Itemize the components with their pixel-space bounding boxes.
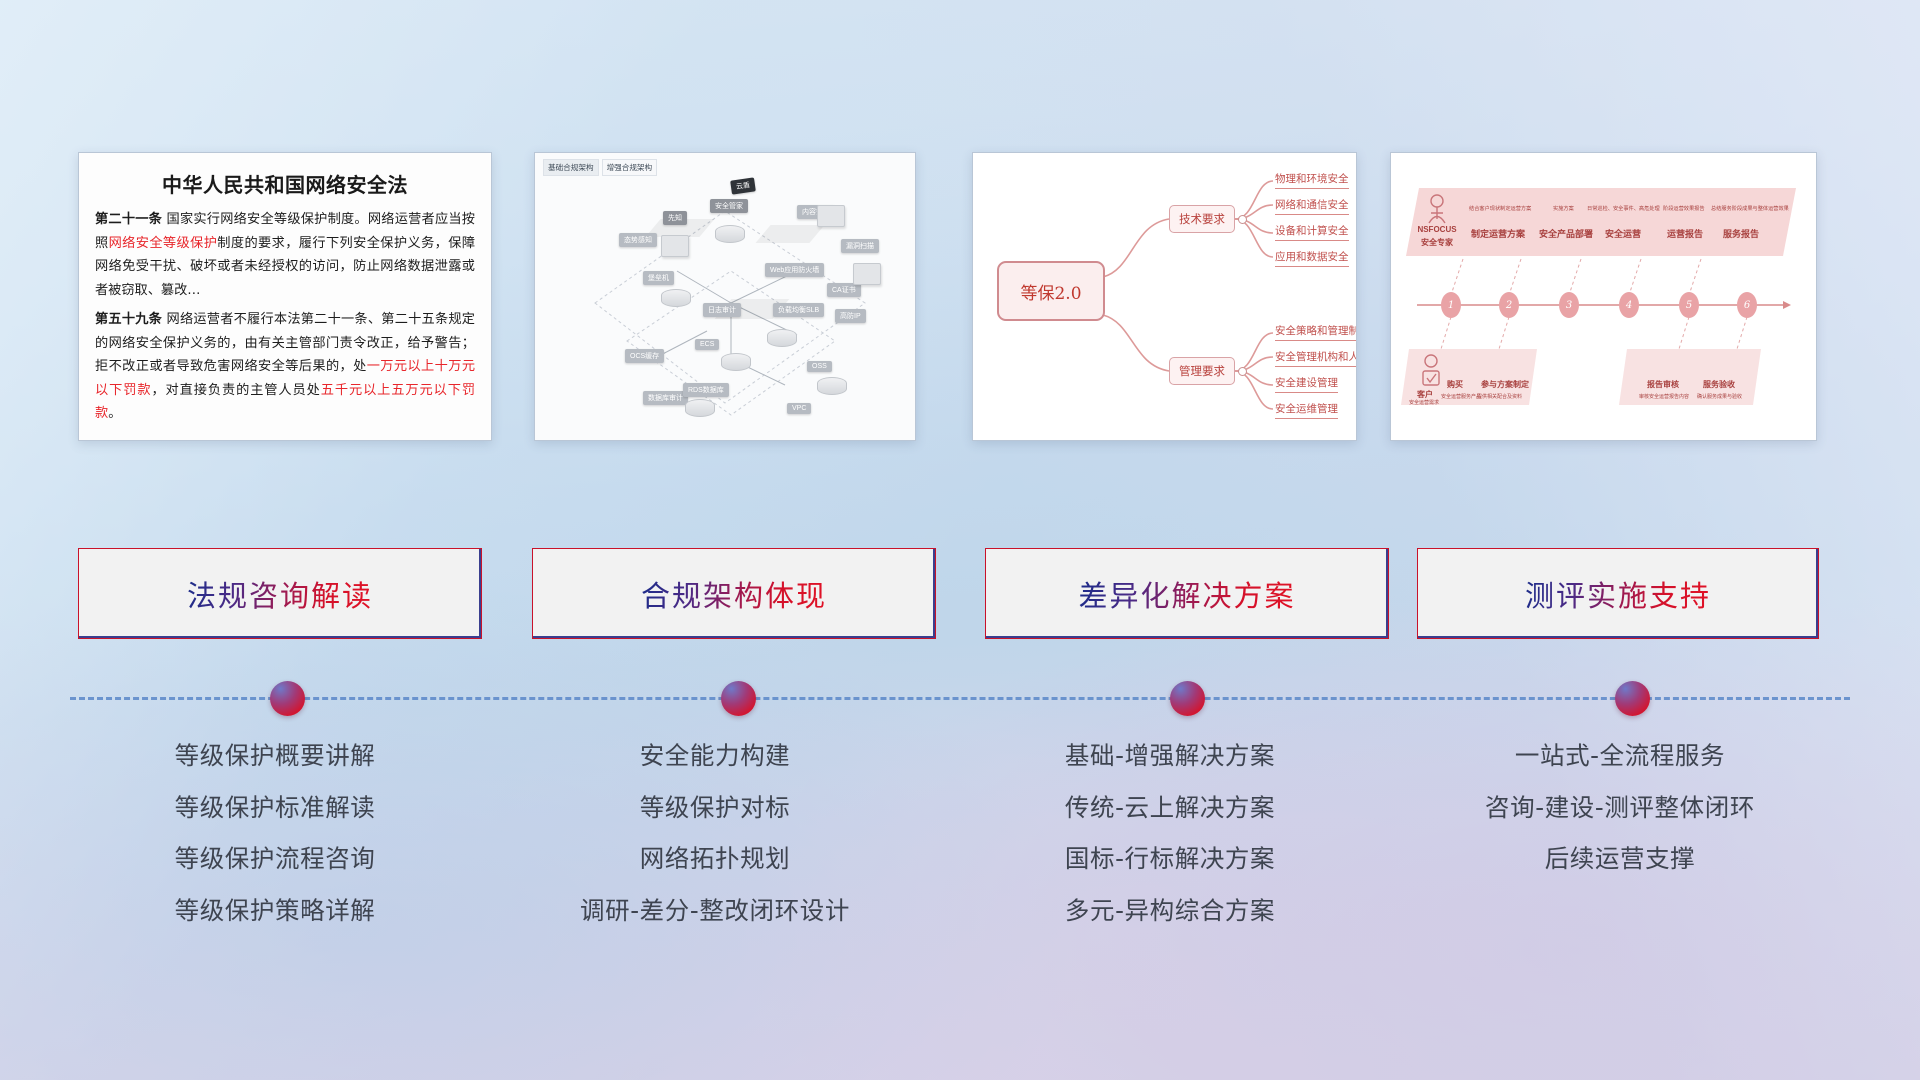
heading-box-compliance-architecture[interactable]: 合规架构体现 xyxy=(532,548,936,639)
timeline-dot-3[interactable] xyxy=(1170,681,1205,716)
heading-label-4: 测评实施支持 xyxy=(1525,573,1711,615)
column-2-line-1: 安全能力构建 xyxy=(500,744,930,769)
column-1-line-3: 等级保护流程咨询 xyxy=(50,847,500,872)
column-1-line-1: 等级保护概要讲解 xyxy=(50,744,500,769)
column-4-line-2: 咨询-建设-测评整体闭环 xyxy=(1395,796,1845,821)
timeline-dashed-line xyxy=(70,697,1850,700)
column-3-line-3: 国标-行标解决方案 xyxy=(945,847,1395,872)
column-evaluation-support: 一站式-全流程服务 咨询-建设-测评整体闭环 后续运营支撑 xyxy=(1395,744,1845,899)
column-4-line-1: 一站式-全流程服务 xyxy=(1395,744,1845,769)
timeline-dot-2[interactable] xyxy=(721,681,756,716)
column-compliance-architecture: 安全能力构建 等级保护对标 网络拓扑规划 调研-差分-整改闭环设计 xyxy=(500,744,930,950)
column-3-line-2: 传统-云上解决方案 xyxy=(945,796,1395,821)
column-2-line-2: 等级保护对标 xyxy=(500,796,930,821)
heading-label-2: 合规架构体现 xyxy=(641,573,827,615)
timeline-dot-1[interactable] xyxy=(270,681,305,716)
slide-stage: 中华人民共和国网络安全法 第二十一条 国家实行网络安全等级保护制度。网络运营者应… xyxy=(0,0,1920,1080)
column-1-line-2: 等级保护标准解读 xyxy=(50,796,500,821)
heading-label-1: 法规咨询解读 xyxy=(187,573,373,615)
heading-label-3: 差异化解决方案 xyxy=(1078,573,1295,615)
heading-box-differentiated-solution[interactable]: 差异化解决方案 xyxy=(985,548,1389,639)
heading-box-regulation-consulting[interactable]: 法规咨询解读 xyxy=(78,548,482,639)
column-differentiated-solution: 基础-增强解决方案 传统-云上解决方案 国标-行标解决方案 多元-异构综合方案 xyxy=(945,744,1395,950)
column-regulation-consulting: 等级保护概要讲解 等级保护标准解读 等级保护流程咨询 等级保护策略详解 xyxy=(50,744,500,950)
heading-box-evaluation-support[interactable]: 测评实施支持 xyxy=(1417,548,1819,639)
column-4-line-3: 后续运营支撑 xyxy=(1395,847,1845,872)
column-3-line-1: 基础-增强解决方案 xyxy=(945,744,1395,769)
column-3-line-4: 多元-异构综合方案 xyxy=(945,899,1395,924)
column-1-line-4: 等级保护策略详解 xyxy=(50,899,500,924)
column-2-line-4: 调研-差分-整改闭环设计 xyxy=(500,899,930,924)
timeline xyxy=(70,697,1850,700)
timeline-dot-4[interactable] xyxy=(1615,681,1650,716)
column-2-line-3: 网络拓扑规划 xyxy=(500,847,930,872)
